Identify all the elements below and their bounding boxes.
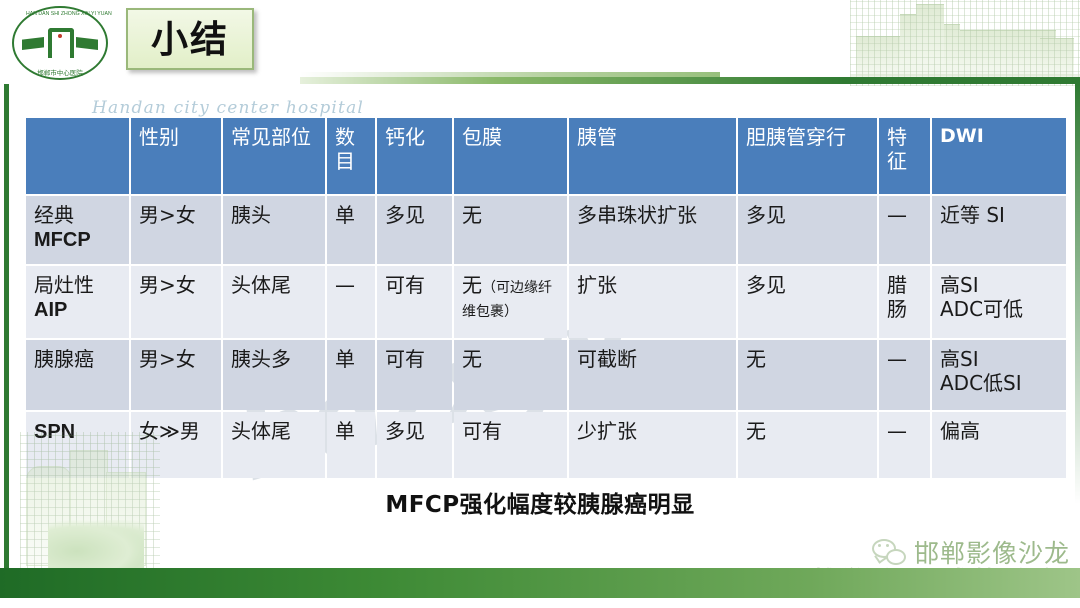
col-header-duct-penetrating: 胆胰管穿行 <box>738 118 877 194</box>
cell-capsule: 无 <box>454 340 567 410</box>
cell-number: 单 <box>327 196 375 264</box>
cell-dwi: 高SI ADC可低 <box>932 266 1066 338</box>
cell-gender: 男>女 <box>131 340 221 410</box>
hospital-building-artwork-bottom <box>20 432 160 572</box>
cell-calcification: 可有 <box>377 266 452 338</box>
col-header-category <box>26 118 129 194</box>
cell-pancreatic-duct: 多串珠状扩张 <box>569 196 736 264</box>
cell-calcification: 多见 <box>377 196 452 264</box>
col-header-feature: 特征 <box>879 118 930 194</box>
cell-number: 单 <box>327 412 375 478</box>
col-header-calcification: 钙化 <box>377 118 452 194</box>
dwi-line2: ADC低SI <box>940 371 1022 395</box>
logo-arc-bottom-text: 邯郸市中心医院 <box>30 67 90 77</box>
comparison-table-wrap: 性别 常见部位 数目 钙化 包膜 胰管 胆胰管穿行 特征 DWI 经典 MFCP <box>24 116 1046 480</box>
cell-feature: — <box>879 412 930 478</box>
category-cn: 胰腺癌 <box>34 347 94 371</box>
comparison-table: 性别 常见部位 数目 钙化 包膜 胰管 胆胰管穿行 特征 DWI 经典 MFCP <box>24 116 1068 480</box>
cell-duct-penetrating: 多见 <box>738 196 877 264</box>
slide-title-box: 小结 <box>126 8 254 70</box>
page-title: 小结 <box>151 21 229 58</box>
cell-category: 胰腺癌 <box>26 340 129 410</box>
cell-duct-penetrating: 无 <box>738 412 877 478</box>
cell-pancreatic-duct: 扩张 <box>569 266 736 338</box>
table-caption: MFCP强化幅度较胰腺癌明显 <box>0 485 1080 519</box>
cell-location: 胰头多 <box>223 340 325 410</box>
col-header-dwi: DWI <box>932 118 1066 194</box>
dwi-line1: 近等 SI <box>940 203 1005 227</box>
cell-capsule: 无（可边缘纤维包裹） <box>454 266 567 338</box>
cell-location: 胰头 <box>223 196 325 264</box>
cell-location: 头体尾 <box>223 412 325 478</box>
content-frame-right-border <box>1075 84 1080 504</box>
cell-pancreatic-duct: 可截断 <box>569 340 736 410</box>
capsule-main: 无 <box>462 203 482 227</box>
col-header-gender: 性别 <box>131 118 221 194</box>
table-row: 胰腺癌 男>女 胰头多 单 可有 无 可截断 无 — 高SI ADC低SI <box>26 340 1066 410</box>
cell-capsule: 无 <box>454 196 567 264</box>
dwi-line1: 高SI <box>940 347 979 371</box>
cell-capsule: 可有 <box>454 412 567 478</box>
table-row: SPN 女≫男 头体尾 单 多见 可有 少扩张 无 — 偏高 <box>26 412 1066 478</box>
cell-feature: — <box>879 196 930 264</box>
cell-calcification: 可有 <box>377 340 452 410</box>
capsule-main: 可有 <box>462 419 502 443</box>
cell-dwi: 近等 SI <box>932 196 1066 264</box>
cell-duct-penetrating: 多见 <box>738 266 877 338</box>
cell-feature: — <box>879 340 930 410</box>
cell-category: 局灶性 AIP <box>26 266 129 338</box>
dwi-line1: 高SI <box>940 273 979 297</box>
logo-red-dot <box>58 34 62 38</box>
table-row: 经典 MFCP 男>女 胰头 单 多见 无 多串珠状扩张 多见 — 近等 SI <box>26 196 1066 264</box>
header-rule <box>300 77 1080 84</box>
category-latin: AIP <box>34 299 67 321</box>
table-body: 经典 MFCP 男>女 胰头 单 多见 无 多串珠状扩张 多见 — 近等 SI <box>26 196 1066 478</box>
cell-dwi: 偏高 <box>932 412 1066 478</box>
col-header-number: 数目 <box>327 118 375 194</box>
cell-calcification: 多见 <box>377 412 452 478</box>
col-header-pancreatic-duct: 胰管 <box>569 118 736 194</box>
logo-gate-shape <box>48 28 74 58</box>
cell-dwi: 高SI ADC低SI <box>932 340 1066 410</box>
capsule-main: 无 <box>462 273 482 297</box>
cell-number: 单 <box>327 340 375 410</box>
capsule-main: 无 <box>462 347 482 371</box>
category-cn: 局灶性 <box>34 273 94 297</box>
logo-arc-top-text: HAN DAN SHI ZHONG XIN YI YUAN <box>26 11 94 17</box>
hospital-logo: HAN DAN SHI ZHONG XIN YI YUAN 邯郸市中心医院 <box>8 4 112 82</box>
category-latin: MFCP <box>34 229 91 251</box>
cell-gender: 男>女 <box>131 266 221 338</box>
cell-feature: 腊肠 <box>879 266 930 338</box>
dwi-line1: 偏高 <box>940 419 980 443</box>
hospital-building-artwork-top <box>850 0 1080 86</box>
cell-gender: 男>女 <box>131 196 221 264</box>
cell-category: 经典 MFCP <box>26 196 129 264</box>
dwi-line2: ADC可低 <box>940 297 1023 321</box>
table-row: 局灶性 AIP 男>女 头体尾 — 可有 无（可边缘纤维包裹） 扩张 多见 腊肠… <box>26 266 1066 338</box>
cell-number: — <box>327 266 375 338</box>
col-header-capsule: 包膜 <box>454 118 567 194</box>
cell-pancreatic-duct: 少扩张 <box>569 412 736 478</box>
footer-green-bar <box>0 568 1080 598</box>
cell-location: 头体尾 <box>223 266 325 338</box>
col-header-location: 常见部位 <box>223 118 325 194</box>
category-cn: 经典 <box>34 203 74 227</box>
table-header-row: 性别 常见部位 数目 钙化 包膜 胰管 胆胰管穿行 特征 DWI <box>26 118 1066 194</box>
cell-duct-penetrating: 无 <box>738 340 877 410</box>
slide-canvas: HAN DAN SHI ZHONG XIN YI YUAN 邯郸市中心医院 小结… <box>0 0 1080 608</box>
